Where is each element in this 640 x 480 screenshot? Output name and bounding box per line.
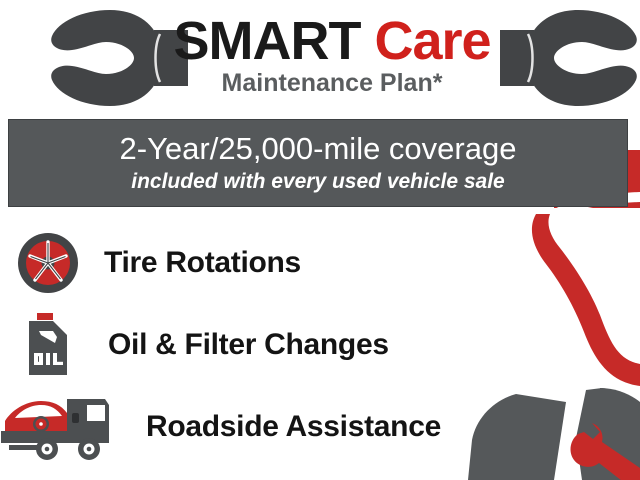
list-item: Oil & Filter Changes — [0, 304, 470, 386]
oil-cap — [37, 313, 53, 320]
torso-right — [576, 388, 640, 480]
smart-care-poster: SMART Care Maintenance Plan* 2-Year/25,0… — [0, 0, 640, 480]
brand-logo: SMART Care Maintenance Plan* — [152, 14, 512, 98]
feature-label: Tire Rotations — [104, 246, 301, 280]
feature-label: Roadside Assistance — [146, 410, 441, 444]
oil-can-icon — [0, 308, 96, 382]
wrench-icon — [500, 4, 640, 112]
tow-truck-icon — [0, 390, 124, 464]
list-item: Tire Rotations — [0, 222, 470, 304]
wrench-icon — [571, 423, 640, 480]
brand-title: SMART Care — [152, 14, 512, 69]
torso-left-arm — [468, 394, 566, 480]
coverage-headline: 2-Year/25,000-mile coverage — [120, 132, 517, 167]
feature-label: Oil & Filter Changes — [108, 328, 389, 362]
list-item: Roadside Assistance — [0, 386, 470, 468]
coverage-banner: 2-Year/25,000-mile coverage included wit… — [8, 119, 628, 207]
brand-subtitle: Maintenance Plan* — [152, 70, 512, 98]
brand-title-primary: SMART — [173, 11, 360, 71]
tire-wheel-icon — [0, 226, 96, 300]
coverage-subline: included with every used vehicle sale — [131, 170, 505, 194]
neck-shade — [600, 388, 640, 450]
feature-list: Tire Rotations — [0, 222, 470, 468]
poster-header: SMART Care Maintenance Plan* — [0, 0, 640, 118]
overall-strap-gap — [554, 394, 582, 480]
cap-tie — [532, 214, 640, 386]
brand-title-secondary: Care — [374, 11, 490, 71]
